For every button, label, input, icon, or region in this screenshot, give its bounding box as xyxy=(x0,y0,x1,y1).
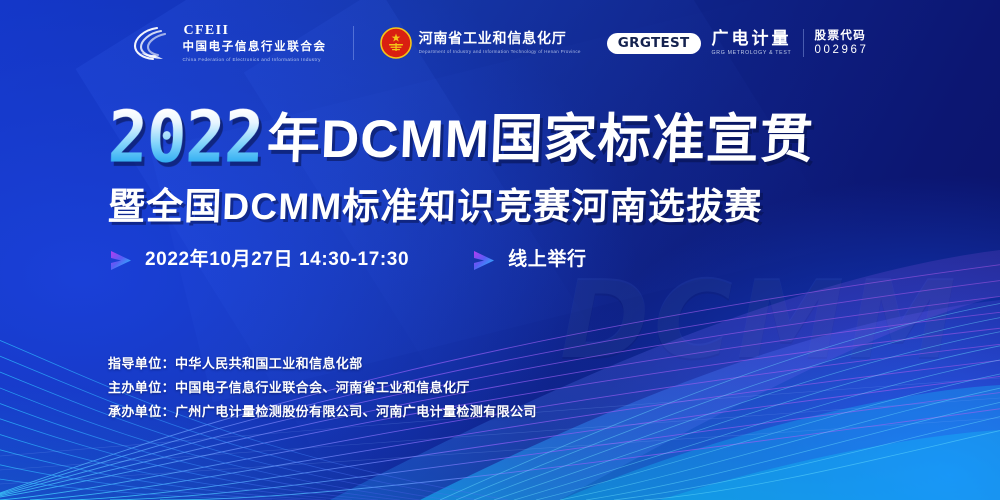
grgtest-name-en: GRG METROLOGY & TEST xyxy=(712,49,792,57)
credit-organizer: 承办单位：广州广电计量检测股份有限公司、河南广电计量检测有限公司 xyxy=(108,400,537,424)
organizer-credits: 指导单位：中华人民共和国工业和信息化部 主办单位：中国电子信息行业联合会、河南省… xyxy=(108,352,537,424)
credit-host: 主办单位：中国电子信息行业联合会、河南省工业和信息化厅 xyxy=(108,376,537,400)
chevron-right-icon xyxy=(108,250,134,271)
cfeii-swoosh-icon xyxy=(131,24,175,62)
logo-cfeii: CFEII 中国电子信息行业联合会 China Federation of El… xyxy=(131,24,326,63)
grgtest-text-block: 广电计量 GRG METROLOGY & TEST xyxy=(712,29,792,57)
logo-grgtest: GRGTEST 广电计量 GRG METROLOGY & TEST 股票代码 0… xyxy=(607,29,869,57)
henan-name-cn: 河南省工业和信息化厅 xyxy=(419,30,581,47)
grgtest-badge: GRGTEST xyxy=(607,33,701,54)
page-title: 2022 年DCMM国家标准宣贯 xyxy=(108,96,938,168)
event-banner: DCMM xyxy=(0,0,1000,500)
henan-name-en: Department of Industry and Information T… xyxy=(419,48,581,56)
logo-divider-2 xyxy=(803,29,804,57)
henan-text-block: 河南省工业和信息化厅 Department of Industry and In… xyxy=(419,30,581,56)
event-venue: 线上举行 xyxy=(508,249,586,271)
national-emblem-icon xyxy=(380,27,412,59)
grgtest-name-cn: 广电计量 xyxy=(712,29,792,48)
title-year: 2022 xyxy=(107,106,268,171)
chevron-right-icon-2 xyxy=(471,250,497,271)
cfeii-name-en: China Federation of Electronics and Info… xyxy=(182,55,326,62)
logo-divider-1 xyxy=(353,26,354,60)
cfeii-name-cn: 中国电子信息行业联合会 xyxy=(182,40,326,55)
stock-info-block: 股票代码 002967 xyxy=(815,29,869,57)
sponsor-logo-bar: CFEII 中国电子信息行业联合会 China Federation of El… xyxy=(0,14,1000,72)
title-main-cn: 年DCMM国家标准宣贯 xyxy=(266,112,815,168)
credit-guidance: 指导单位：中华人民共和国工业和信息化部 xyxy=(108,352,537,376)
event-meta-row: 2022年10月27日 14:30-17:30 线上举行 xyxy=(108,246,587,274)
logo-henan-dept: 河南省工业和信息化厅 Department of Industry and In… xyxy=(380,27,581,59)
cfeii-abbreviation: CFEII xyxy=(183,24,326,37)
stock-code-value: 002967 xyxy=(815,43,869,57)
grgtest-badge-text: GRGTEST xyxy=(618,36,690,50)
cfeii-text-block: CFEII 中国电子信息行业联合会 China Federation of El… xyxy=(182,24,326,63)
stock-code-label: 股票代码 xyxy=(815,29,869,43)
page-subtitle: 暨全国DCMM标准知识竞赛河南选拔赛 xyxy=(107,176,939,230)
event-datetime: 2022年10月27日 14:30-17:30 xyxy=(145,249,409,271)
